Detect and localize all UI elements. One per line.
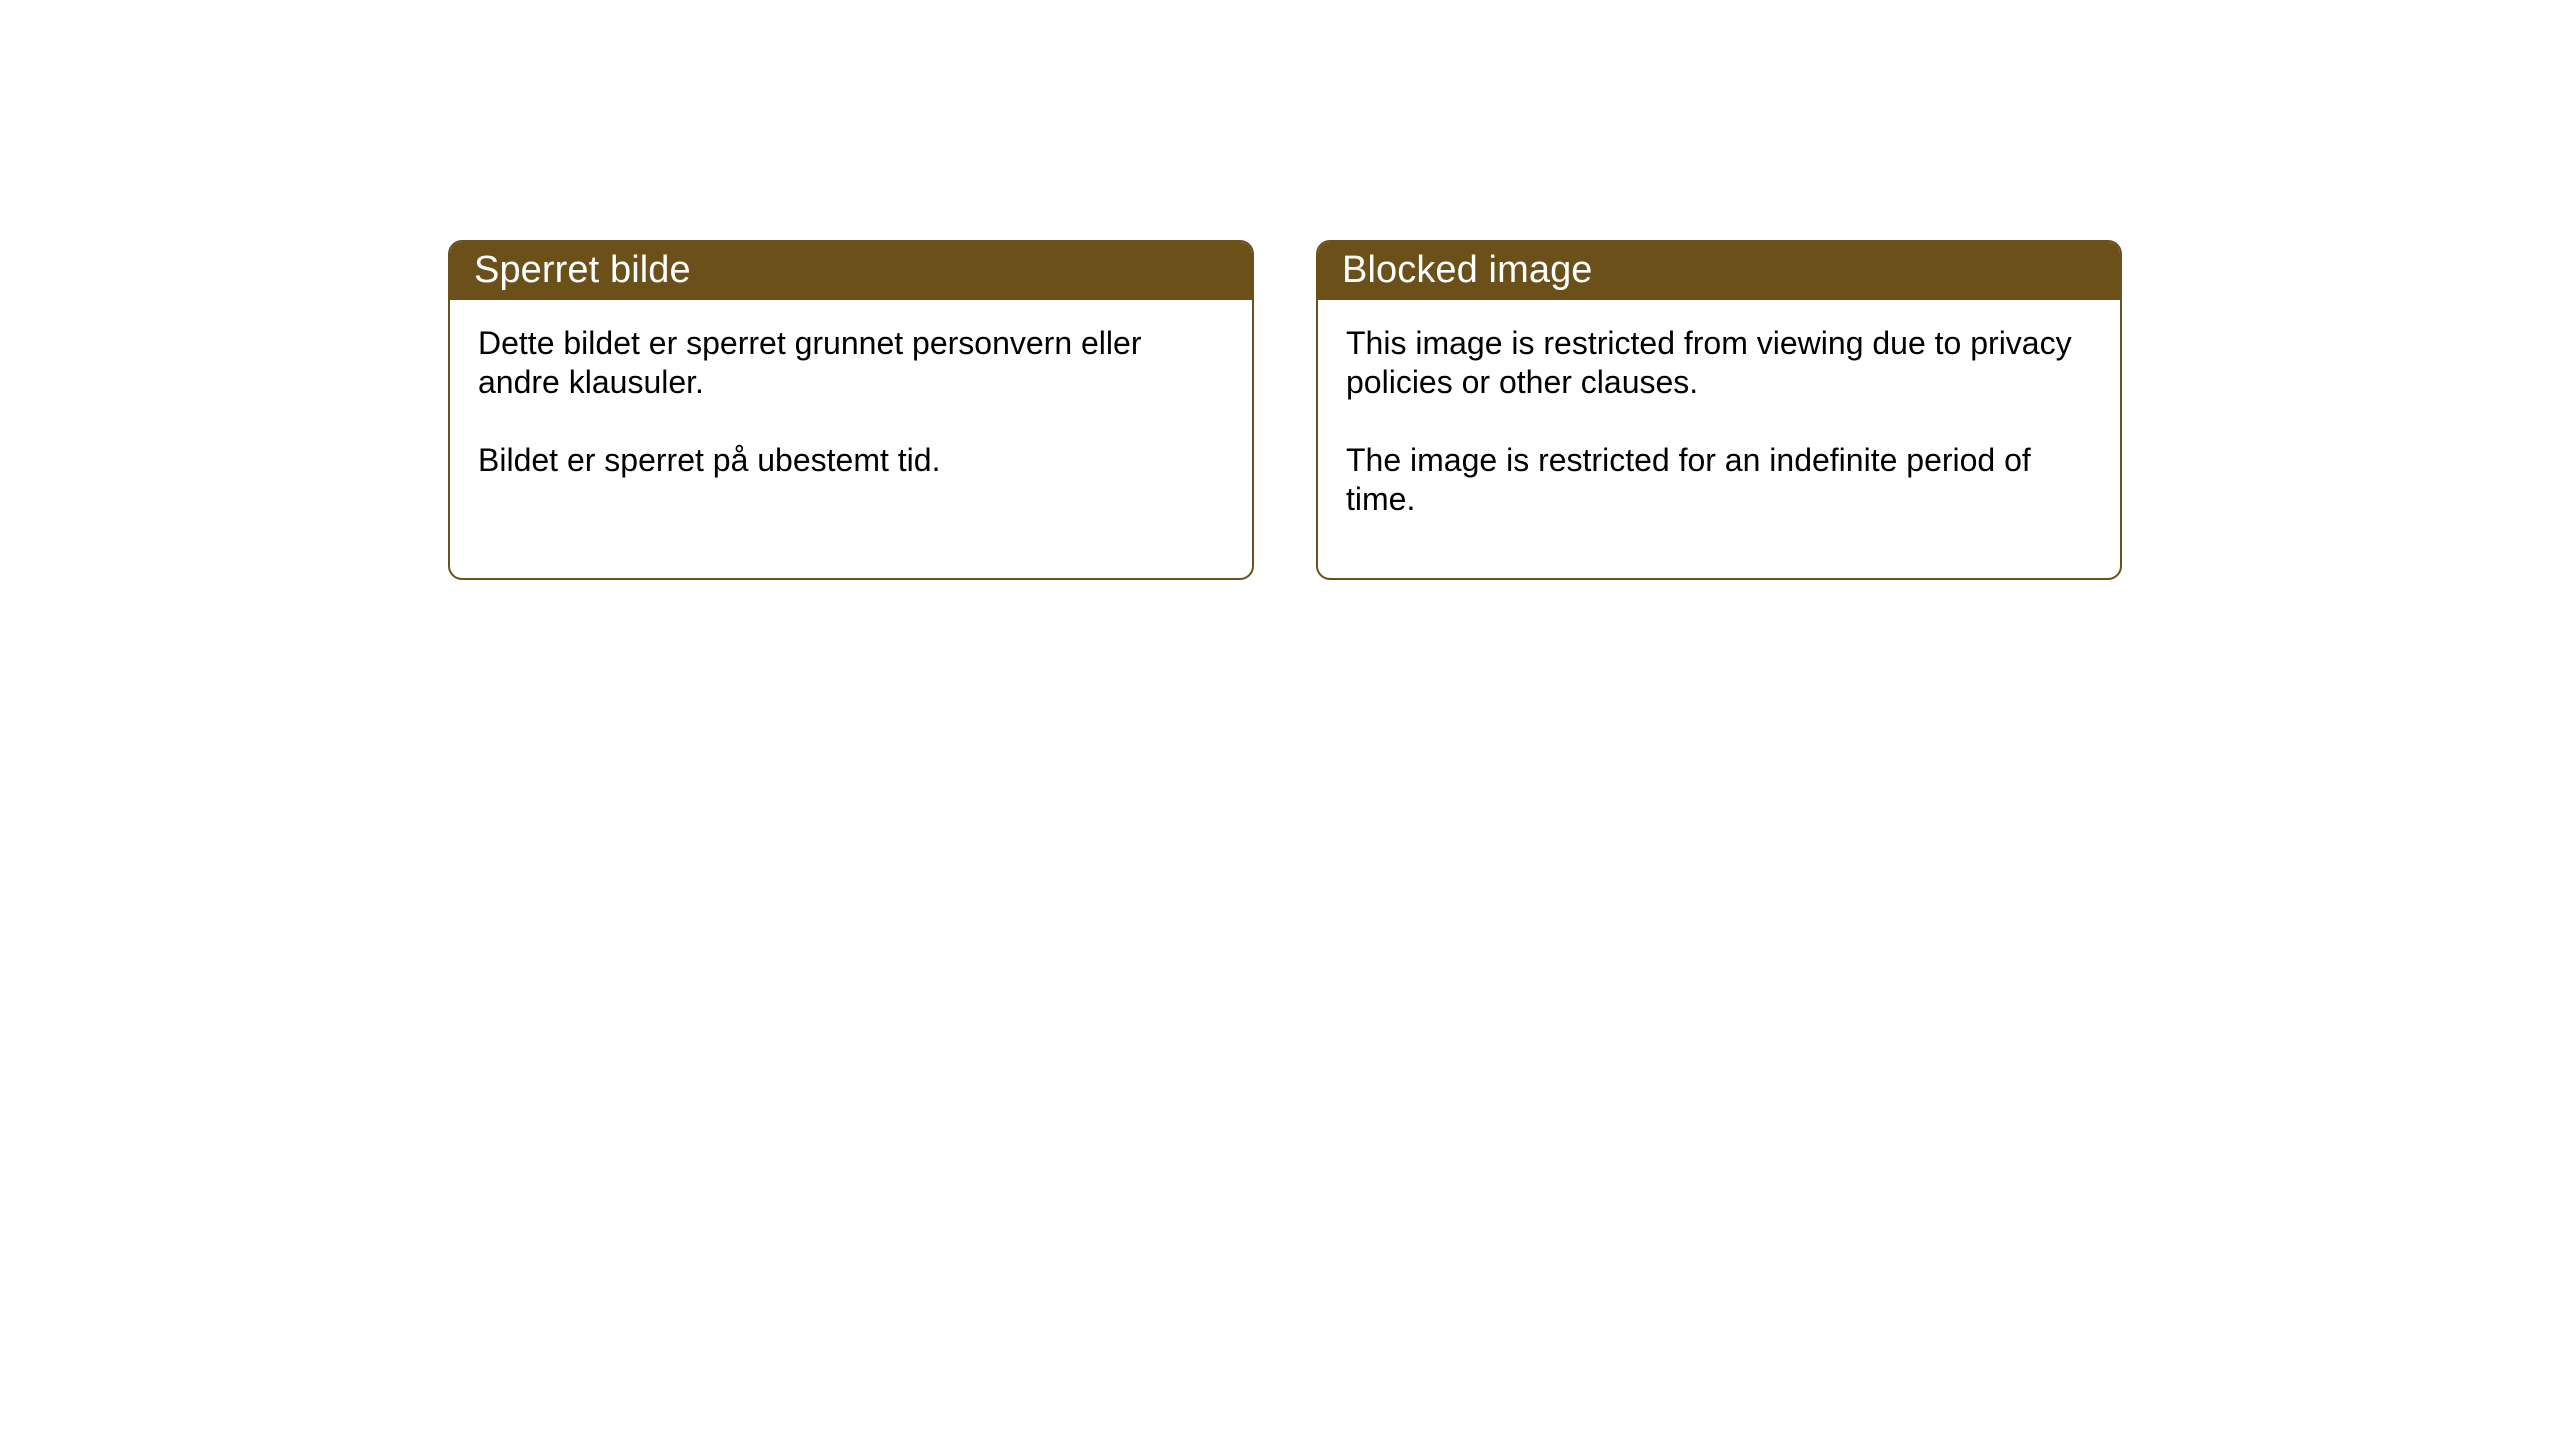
card-paragraph-secondary-norwegian: Bildet er sperret på ubestemt tid. bbox=[478, 441, 1226, 480]
page-root: Sperret bilde Dette bildet er sperret gr… bbox=[0, 0, 2560, 1440]
blocked-image-card-norwegian: Sperret bilde Dette bildet er sperret gr… bbox=[448, 240, 1254, 580]
card-body-english: This image is restricted from viewing du… bbox=[1318, 300, 2120, 519]
card-header-norwegian: Sperret bilde bbox=[448, 240, 1254, 300]
card-title-norwegian: Sperret bilde bbox=[474, 251, 691, 289]
card-paragraph-secondary-english: The image is restricted for an indefinit… bbox=[1346, 441, 2094, 519]
blocked-image-card-english: Blocked image This image is restricted f… bbox=[1316, 240, 2122, 580]
card-header-english: Blocked image bbox=[1316, 240, 2122, 300]
card-paragraph-primary-english: This image is restricted from viewing du… bbox=[1346, 324, 2094, 402]
card-paragraph-primary-norwegian: Dette bildet er sperret grunnet personve… bbox=[478, 324, 1226, 402]
card-body-norwegian: Dette bildet er sperret grunnet personve… bbox=[450, 300, 1252, 480]
card-title-english: Blocked image bbox=[1342, 251, 1593, 289]
